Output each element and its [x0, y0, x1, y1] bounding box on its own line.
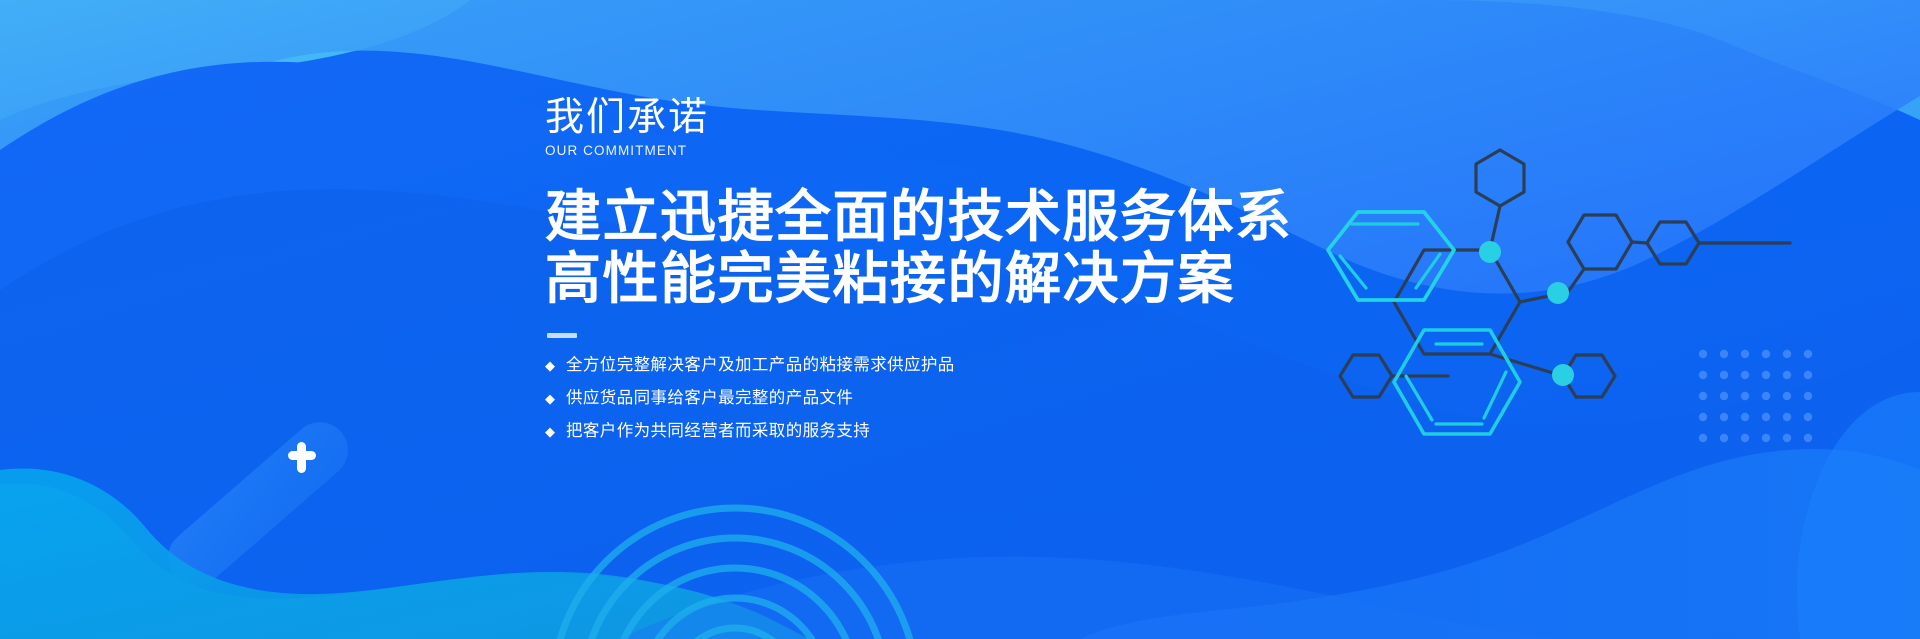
banner-content: 我们承诺 OUR COMMITMENT 建立迅捷全面的技术服务体系 高性能完美粘…: [545, 96, 1365, 454]
list-item: ◆ 全方位完整解决客户及加工产品的粘接需求供应护品: [545, 355, 1365, 376]
bullet-label: 供应货品同事给客户最完整的产品文件: [566, 388, 853, 409]
bullet-label: 把客户作为共同经营者而采取的服务支持: [566, 421, 870, 442]
molecule-node-dots: [1479, 241, 1574, 386]
bullet-label: 全方位完整解决客户及加工产品的粘接需求供应护品: [566, 355, 955, 376]
bullet-list: ◆ 全方位完整解决客户及加工产品的粘接需求供应护品 ◆ 供应货品同事给客户最完整…: [545, 355, 1365, 442]
headline-block: 建立迅捷全面的技术服务体系 高性能完美粘接的解决方案: [545, 186, 1365, 310]
diagonal-bar-shape: [157, 411, 360, 598]
headline-line-1: 建立迅捷全面的技术服务体系: [545, 186, 1365, 248]
diamond-bullet-icon: ◆: [545, 359, 555, 372]
headline-line-2: 高性能完美粘接的解决方案: [545, 248, 1365, 310]
diamond-bullet-icon: ◆: [545, 425, 555, 438]
divider-rule: [547, 333, 577, 338]
eyebrow-title-cn: 我们承诺: [545, 96, 1365, 140]
eyebrow-title-en: OUR COMMITMENT: [545, 143, 1365, 158]
list-item: ◆ 供应货品同事给客户最完整的产品文件: [545, 388, 1365, 409]
diamond-bullet-icon: ◆: [545, 392, 555, 405]
list-item: ◆ 把客户作为共同经营者而采取的服务支持: [545, 421, 1365, 442]
promo-banner: 我们承诺 OUR COMMITMENT 建立迅捷全面的技术服务体系 高性能完美粘…: [0, 0, 1920, 639]
